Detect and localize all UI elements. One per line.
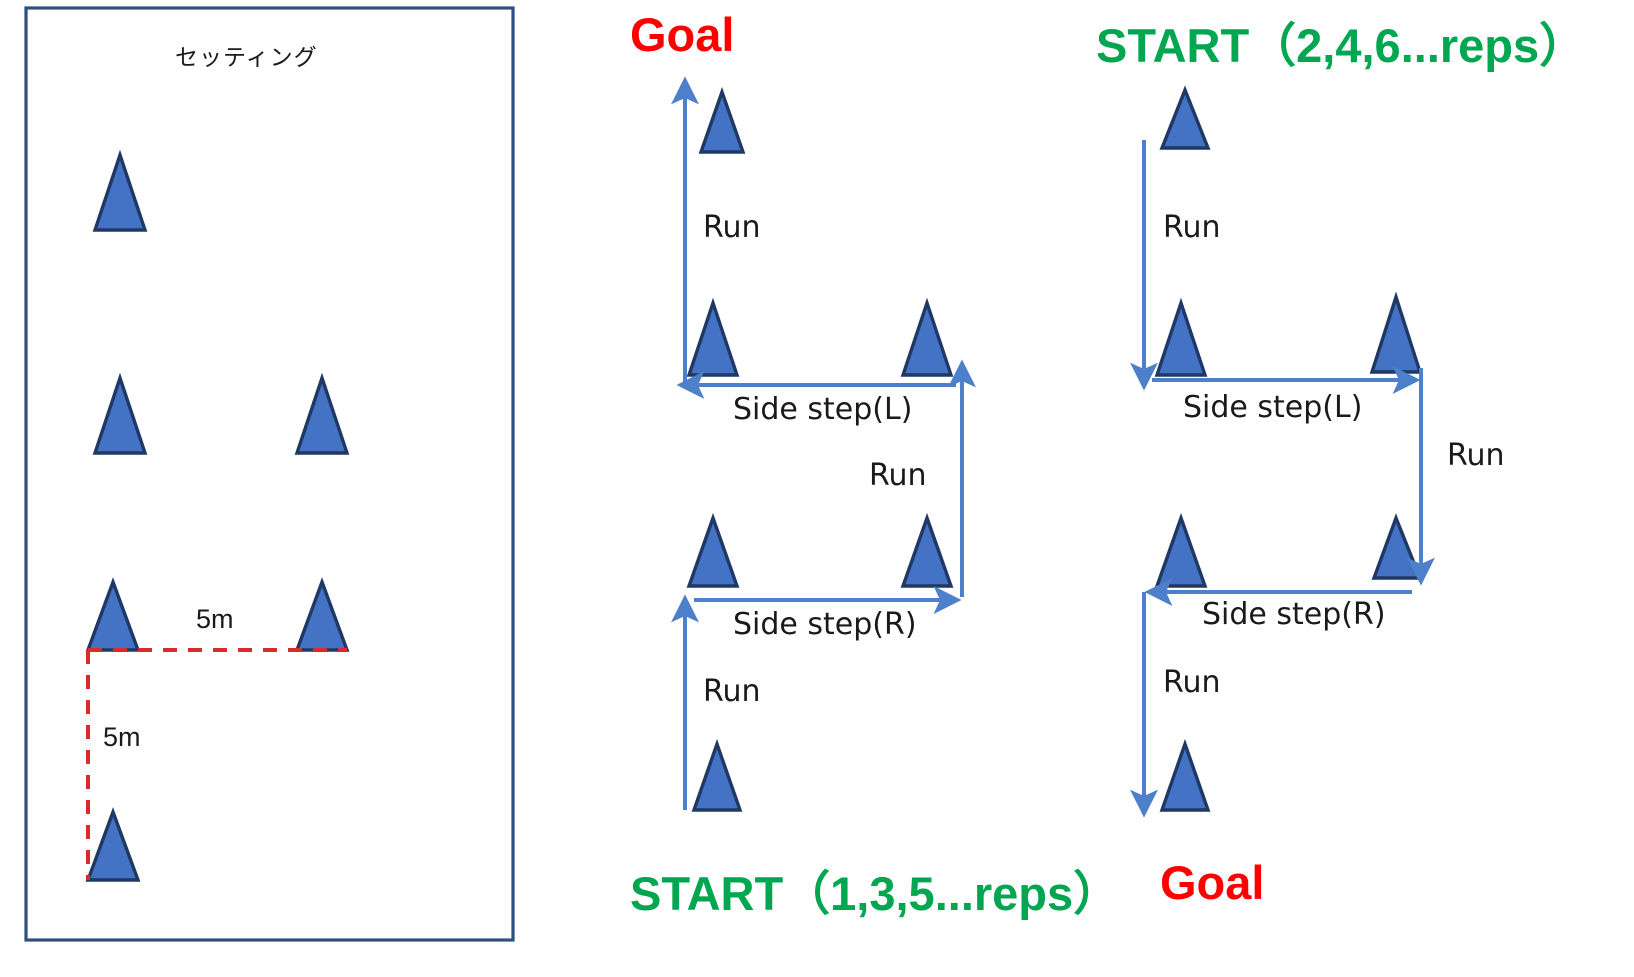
cone-icon-even-mid-right [1372,297,1420,372]
cone-icon-even-low-left [1157,518,1205,586]
measure-label-vertical: 5m [103,722,141,753]
vector-layer [0,0,1634,977]
diagram-canvas: セッティング 5m 5m Goal Run Side step(L) Run S… [0,0,1634,977]
cone-icon-odd-low-right [903,518,951,586]
cone-icon-even-low-right [1374,518,1420,578]
cone-icon-odd-low-left [689,518,737,586]
odd-label-run-top: Run [703,210,761,245]
even-label-side-step-l: Side step(L) [1183,390,1362,425]
cone-icon-even-bottom [1162,744,1208,810]
cone-icon-odd-mid-left [689,303,737,375]
odd-header-goal: Goal [630,7,734,62]
odd-label-run-bottom: Run [703,674,761,709]
measure-label-horizontal: 5m [196,604,234,635]
cone-icon-odd-top [701,92,743,152]
odd-label-side-step-r: Side step(R) [733,607,917,642]
even-label-run-top: Run [1163,210,1221,245]
even-header-start: START（2,4,6...reps） [1096,7,1586,76]
odd-label-side-step-l: Side step(L) [733,392,912,427]
cone-icon-odd-bottom [694,744,740,810]
even-header-goal: Goal [1160,855,1264,910]
even-label-side-step-r: Side step(R) [1202,597,1386,632]
setting-panel-border [26,8,513,940]
odd-header-start: START（1,3,5...reps） [630,855,1120,924]
cone-icon-even-top [1162,90,1208,148]
cone-icon-odd-mid-right [903,303,951,375]
cone-icon-even-mid-left [1157,303,1205,375]
odd-label-run-mid: Run [869,458,927,493]
even-label-run-bottom: Run [1163,665,1221,700]
even-label-run-mid: Run [1447,438,1505,473]
setting-panel-title: セッティング [175,38,318,72]
